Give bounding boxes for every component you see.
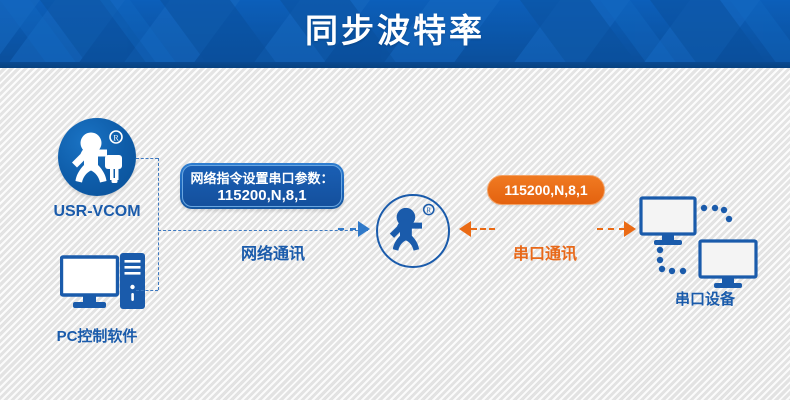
center-device-icon: R: [376, 194, 450, 268]
connector-mid-horizontal: [158, 230, 368, 231]
network-command-badge-inner: 网络指令设置串口参数： 115200,N,8,1: [182, 165, 342, 207]
usr-person-outline-icon: R: [378, 196, 444, 262]
svg-text:R: R: [427, 208, 432, 215]
connector-vertical: [158, 158, 159, 290]
serial-arrow-head-right-icon: [624, 221, 636, 237]
diagram-canvas: 同步波特率 R USR-VCOM: [0, 0, 790, 400]
pc-software-label: PC控制软件: [33, 325, 161, 346]
serial-devices-label: 串口设备: [640, 288, 770, 309]
connector-top-horizontal: [136, 158, 158, 159]
serial-arrow-line-left: [471, 228, 495, 230]
serial-flow-label: 串口通讯: [495, 240, 595, 264]
header-bottom-strip: [0, 62, 790, 68]
network-command-badge: 网络指令设置串口参数： 115200,N,8,1: [180, 163, 344, 209]
page-title: 同步波特率: [0, 0, 790, 62]
page-header: 同步波特率: [0, 0, 790, 68]
network-flow-label: 网络通讯: [218, 240, 328, 264]
network-arrow-line: [338, 228, 356, 230]
usr-person-plug-icon: R: [58, 118, 136, 196]
usr-vcom-label: USR-VCOM: [38, 203, 156, 221]
network-arrow-head-icon: [358, 221, 370, 237]
desktop-computer-icon: [60, 253, 146, 315]
command-line-2: 115200,N,8,1: [183, 187, 341, 204]
serial-arrow-line-right: [597, 228, 625, 230]
svg-text:R: R: [113, 134, 119, 143]
baud-rate-badge: 115200,N,8,1: [487, 175, 605, 205]
usr-vcom-logo: R: [58, 118, 136, 196]
serial-arrow-head-icon: [459, 221, 471, 237]
command-line-1: 网络指令设置串口参数：: [183, 170, 341, 187]
serial-devices-icon: [638, 196, 778, 286]
pc-software-icon: [60, 253, 146, 315]
connector-bottom-horizontal: [136, 290, 158, 291]
dual-monitor-icon: [638, 196, 778, 288]
